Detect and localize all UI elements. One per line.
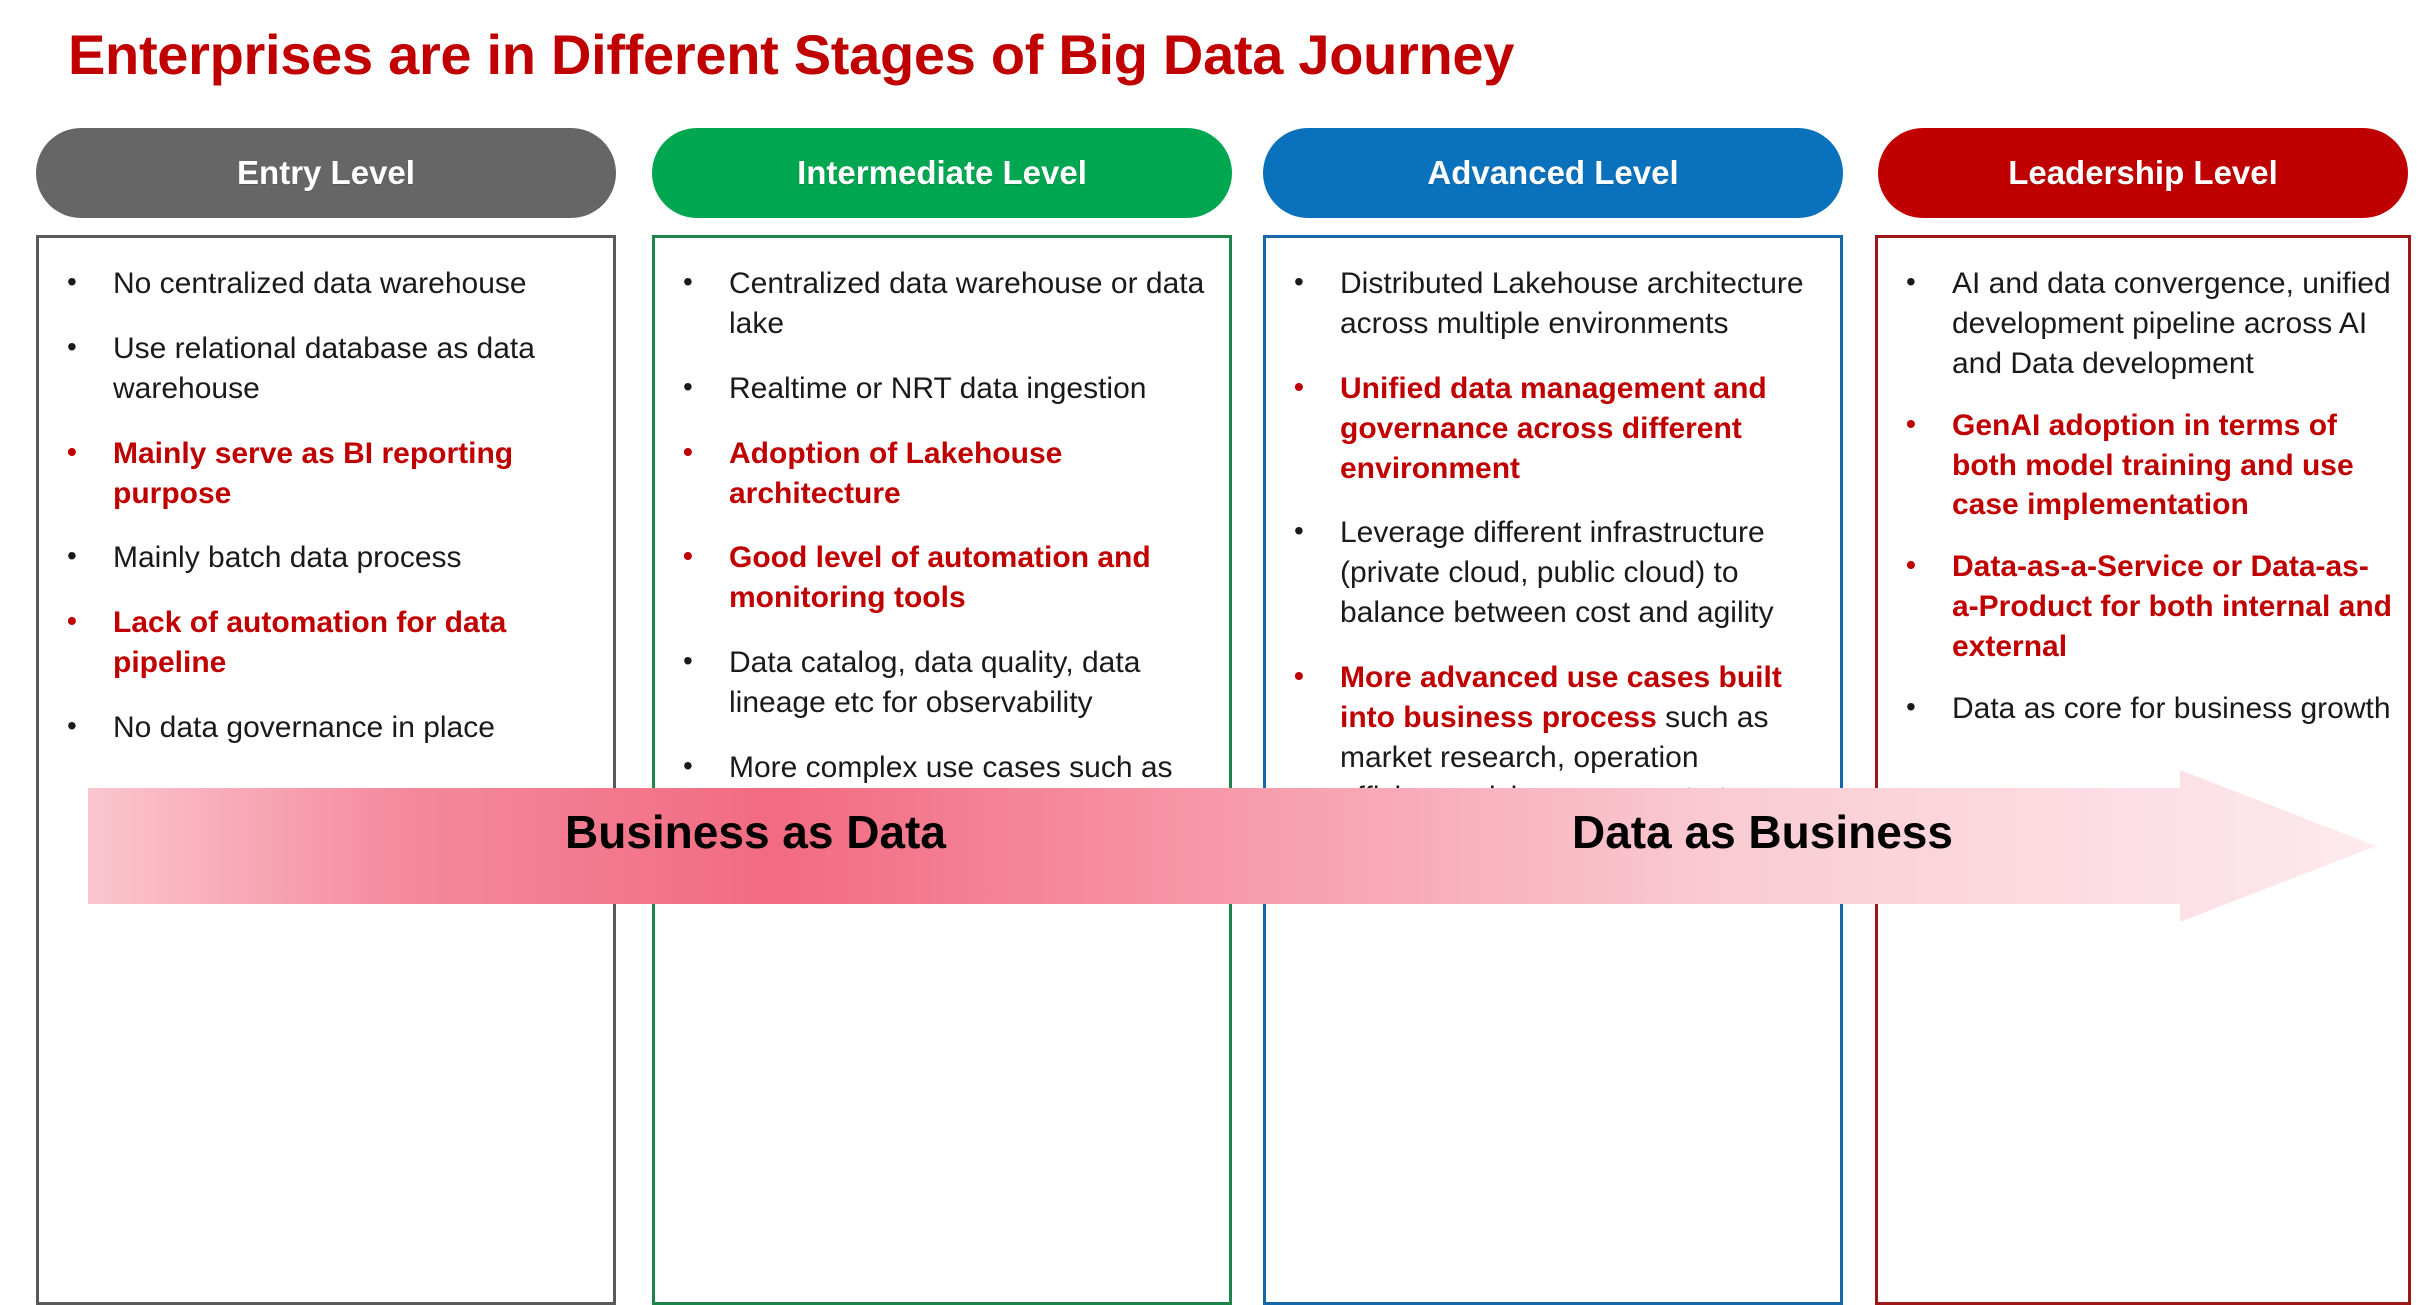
list-item: Centralized data warehouse or data lake <box>669 264 1215 344</box>
list-item: Unified data management and governance a… <box>1280 369 1826 489</box>
bullet-text: Data catalog, data quality, data lineage… <box>729 646 1140 719</box>
list-item: Use relational database as data warehous… <box>53 329 599 409</box>
bullet-text: Mainly batch data process <box>113 541 462 574</box>
bullet-text: Data as core for business growth <box>1952 692 2391 725</box>
list-item: Adoption of Lakehouse architecture <box>669 434 1215 514</box>
stage-header-leadership[interactable]: Leadership Level <box>1878 128 2408 218</box>
bullet-text: Leverage different infrastructure (priva… <box>1340 516 1774 629</box>
bullet-text: Realtime or NRT data ingestion <box>729 372 1146 405</box>
stage-header-intermediate-label: Intermediate Level <box>797 154 1087 192</box>
list-item: Lack of automation for data pipeline <box>53 603 599 683</box>
stage-panel-intermediate: Centralized data warehouse or data lake … <box>652 235 1232 1305</box>
stage-header-entry-label: Entry Level <box>237 154 415 192</box>
list-item: GenAI adoption in terms of both model tr… <box>1892 406 2394 526</box>
list-item: More advanced use cases built into busin… <box>1280 658 1826 818</box>
bullet-list-entry: No centralized data warehouse Use relati… <box>53 264 599 748</box>
bullet-text: Use relational database as data warehous… <box>113 332 535 405</box>
bullet-text: Adoption of Lakehouse architecture <box>729 437 1062 510</box>
list-item: Mainly serve as BI reporting purpose <box>53 434 599 514</box>
bullet-text: Unified data management and governance a… <box>1340 372 1767 485</box>
list-item: No centralized data warehouse <box>53 264 599 304</box>
list-item: Data as core for business growth <box>1892 689 2394 729</box>
bullet-text: Mainly serve as BI reporting purpose <box>113 437 513 510</box>
bullet-list-intermediate: Centralized data warehouse or data lake … <box>669 264 1215 868</box>
bullet-text: Good level of automation and monitoring … <box>729 541 1151 614</box>
stage-panel-entry: No centralized data warehouse Use relati… <box>36 235 616 1305</box>
list-item: Good level of automation and monitoring … <box>669 538 1215 618</box>
list-item: Mainly batch data process <box>53 538 599 578</box>
stage-panel-leadership: AI and data convergence, unified develop… <box>1875 235 2411 1305</box>
arrow-label-left: Business as Data <box>565 805 946 859</box>
list-item: Leverage different infrastructure (priva… <box>1280 513 1826 633</box>
stage-header-intermediate[interactable]: Intermediate Level <box>652 128 1232 218</box>
bullet-text: Centralized data warehouse or data lake <box>729 267 1204 340</box>
list-item: Realtime or NRT data ingestion <box>669 369 1215 409</box>
stage-header-advanced-label: Advanced Level <box>1427 154 1678 192</box>
list-item: Data catalog, data quality, data lineage… <box>669 643 1215 723</box>
arrow-label-right: Data as Business <box>1572 805 1953 859</box>
list-item: No data governance in place <box>53 708 599 748</box>
list-item: AI and data convergence, unified develop… <box>1892 264 2394 384</box>
list-item: Data-as-a-Service or Data-as-a-Product f… <box>1892 547 2394 667</box>
stage-header-leadership-label: Leadership Level <box>2008 154 2278 192</box>
bullet-text: Distributed Lakehouse architecture acros… <box>1340 267 1804 340</box>
stage-header-advanced[interactable]: Advanced Level <box>1263 128 1843 218</box>
list-item: Distributed Lakehouse architecture acros… <box>1280 264 1826 344</box>
bullet-text: Data-as-a-Service or Data-as-a-Product f… <box>1952 550 2392 663</box>
stage-panel-advanced: Distributed Lakehouse architecture acros… <box>1263 235 1843 1305</box>
bullet-text: No centralized data warehouse <box>113 267 527 300</box>
bullet-list-leadership: AI and data convergence, unified develop… <box>1892 264 2394 729</box>
bullet-text: GenAI adoption in terms of both model tr… <box>1952 409 2354 522</box>
bullet-text: Lack of automation for data pipeline <box>113 606 506 679</box>
bullet-text: AI and data convergence, unified develop… <box>1952 267 2391 380</box>
bullet-text: No data governance in place <box>113 711 495 744</box>
bullet-list-advanced: Distributed Lakehouse architecture acros… <box>1280 264 1826 818</box>
stage-header-entry[interactable]: Entry Level <box>36 128 616 218</box>
page-title: Enterprises are in Different Stages of B… <box>68 22 1514 87</box>
